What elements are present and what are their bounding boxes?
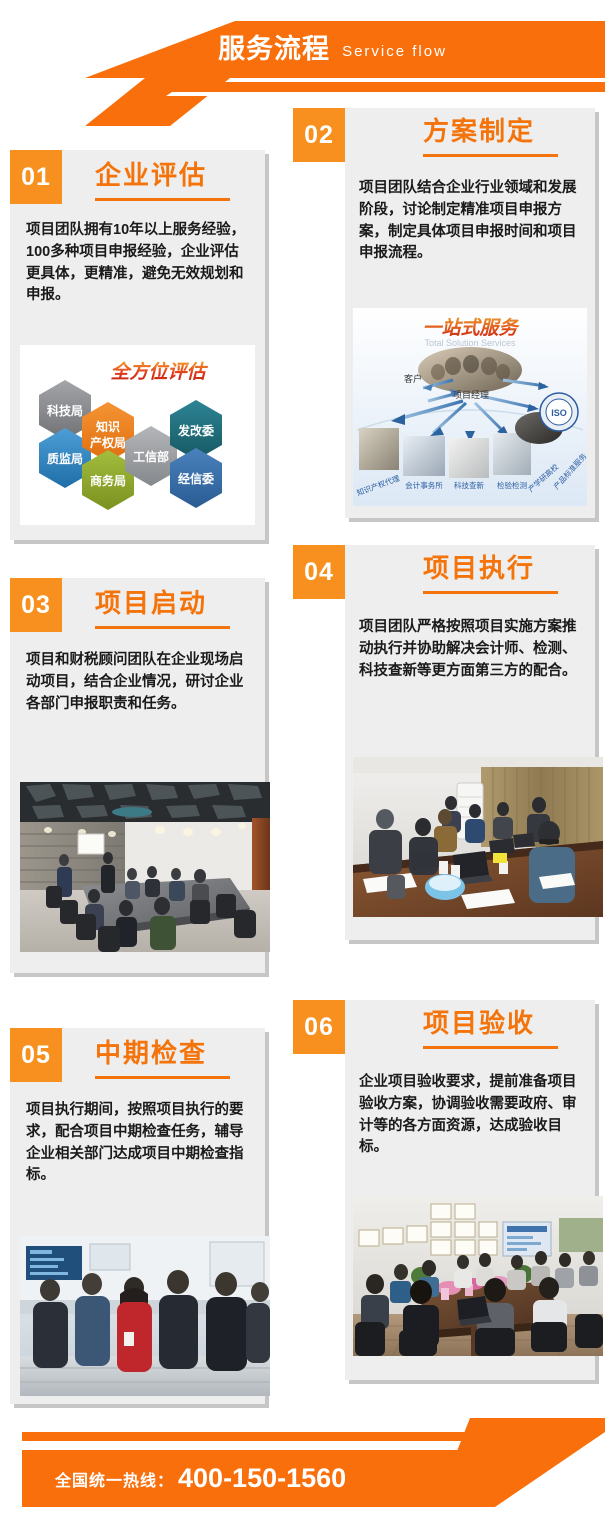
card-02[interactable]: 02 方案制定 项目团队结合企业行业领域和发展阶段，讨论制定精准项目申报方案，制… [345,108,595,518]
card-05-text: 项目执行期间，按照项目执行的要求，配合项目中期检查任务，辅导企业相关部门达成项目… [26,1100,250,1187]
card-06-number-badge: 06 [293,1000,345,1054]
card-01[interactable]: 01 企业评估 项目团队拥有10年以上服务经验，100多种项目申报经验，企业评估… [10,150,265,540]
card-01-text: 项目团队拥有10年以上服务经验，100多种项目申报经验，企业评估更具体，更精准，… [26,220,250,307]
card-02-title: 方案制定 [423,118,535,144]
card-05-photo [20,1236,270,1396]
svg-text:科技局: 科技局 [47,403,83,418]
page-header: 服务流程 Service flow [0,0,605,110]
diagram-label-novelty: 科技查新 [454,480,484,490]
card-04[interactable]: 04 项目执行 项目团队严格按照项目实施方案推动执行并协助解决会计师、检测、科技… [345,545,595,940]
card-05-title: 中期检查 [95,1040,207,1066]
card-05-title-rule [95,1076,230,1079]
diagram-node-xiangmujingli: 项目经理 [453,389,489,400]
card-02-media: 一站式服务 Total Solution Services [353,308,587,506]
card-03[interactable]: 03 项目启动 项目和财税顾问团队在企业现场启动项目，结合企业情况，研讨企业各部… [10,578,265,973]
hotline-number[interactable]: 400-150-1560 [178,1463,346,1494]
page-title: 服务流程 [218,36,330,63]
hexagon-diagram-svg: 全方位评估 科技局 质监局 知识 产权局 [20,345,255,525]
hexagon-caption: 全方位评估 [110,361,208,383]
acceptance-meeting-photo [353,1196,603,1356]
card-04-photo [353,757,603,917]
service-diagram-svg: 一站式服务 Total Solution Services [353,308,587,506]
card-03-number-badge: 03 [10,578,62,632]
card-05[interactable]: 05 中期检查 项目执行期间，按照项目执行的要求，配合项目中期检查任务，辅导企业… [10,1028,265,1404]
header-thin-rule [0,82,605,92]
hex-jingxin-wei: 经信委 [170,448,222,508]
card-06-photo [353,1196,603,1356]
card-05-number-badge: 05 [10,1028,62,1082]
hotline-label: 全国统一热线： [55,1467,174,1491]
team-working-laptops-photo [353,757,603,917]
site-visit-group-photo [20,1236,270,1396]
svg-text:发改委: 发改委 [177,423,215,438]
card-01-title: 企业评估 [95,162,207,188]
card-06-title: 项目验收 [423,1010,535,1036]
card-06-text: 企业项目验收要求，提前准备项目验收方案，协调验收需要政府、审计等的各方面资源，达… [359,1072,583,1159]
card-03-title: 项目启动 [95,590,207,616]
header-thin-rule-inner [0,92,605,96]
svg-text:工信部: 工信部 [133,449,169,464]
svg-text:产权局: 产权局 [90,435,126,450]
diagram-label-inspection: 检验检测 [497,480,527,490]
card-02-title-rule [423,154,558,157]
svg-text:质监局: 质监局 [47,451,83,466]
card-03-title-rule [95,626,230,629]
card-02-number-badge: 02 [293,108,345,162]
footer-hotline: 全国统一热线： 400-150-1560 [55,1450,346,1507]
diagram-node-kehu: 客户 [404,373,422,384]
service-diagram-caption-en: Total Solution Services [424,338,516,348]
card-06[interactable]: 06 项目验收 企业项目验收要求，提前准备项目验收方案，协调验收需要政府、审计等… [345,1000,595,1380]
service-flow-infographic: 服务流程 Service flow 01 企业评估 项目团队拥有10年以上服务经… [0,0,605,1538]
svg-text:经信委: 经信委 [178,471,215,486]
card-04-number-badge: 04 [293,545,345,599]
conference-room-meeting-photo [20,782,270,952]
card-06-title-rule [423,1046,558,1049]
card-02-text: 项目团队结合企业行业领域和发展阶段，讨论制定精准项目申报方案，制定具体项目申报时… [359,178,583,265]
card-04-title-rule [423,591,558,594]
svg-text:商务局: 商务局 [90,473,126,488]
page-subtitle: Service flow [342,44,447,59]
svg-text:ISO: ISO [551,408,567,418]
page-footer: 全国统一热线： 400-150-1560 [0,1418,605,1538]
card-03-text: 项目和财税顾问团队在企业现场启动项目，结合企业情况，研讨企业各部门申报职责和任务… [26,650,250,715]
card-04-text: 项目团队严格按照项目实施方案推动执行并协助解决会计师、检测、科技查新等更方面第三… [359,617,583,682]
header-title-wrap: 服务流程 Service flow [0,21,605,78]
card-04-title: 项目执行 [423,555,535,581]
hexagon-diagram: 全方位评估 科技局 质监局 知识 产权局 [20,345,255,525]
service-diagram-caption: 一站式服务 [422,317,520,339]
card-03-photo [20,782,270,952]
card-01-title-rule [95,198,230,201]
svg-text:知识: 知识 [95,419,120,434]
diagram-label-accounting: 会计事务所 [405,480,443,490]
card-01-media: 全方位评估 科技局 质监局 知识 产权局 [20,345,255,525]
card-01-number-badge: 01 [10,150,62,204]
